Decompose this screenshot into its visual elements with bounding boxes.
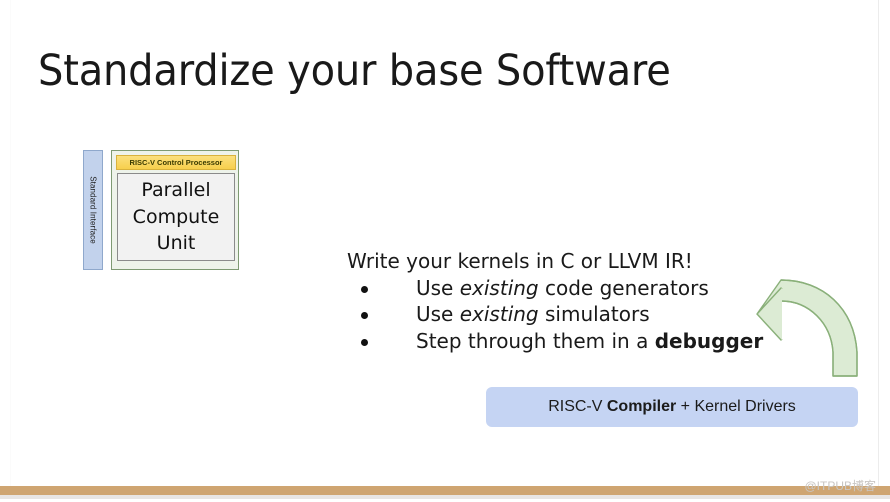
standard-interface-bar: Standard Interface <box>83 150 103 270</box>
compiler-bar-emphasis: Compiler <box>607 398 676 415</box>
bullet-emphasis: debugger <box>655 329 764 353</box>
bullet-prefix: Use <box>416 276 460 300</box>
risc-v-control-processor-band: RISC-V Control Processor <box>116 155 236 170</box>
compiler-bar-prefix: RISC-V <box>548 398 607 415</box>
slide-frame-right-edge <box>878 0 879 495</box>
bullet-prefix: Use <box>416 302 460 326</box>
bullet-dot-icon <box>361 286 368 293</box>
bullet-suffix: code generators <box>539 276 709 300</box>
risc-v-control-processor-label: RISC-V Control Processor <box>130 158 223 167</box>
bullet-dot-icon <box>361 312 368 319</box>
parallel-compute-unit-box: Parallel Compute Unit <box>117 173 235 261</box>
body-text-block: Write your kernels in C or LLVM IR! Use … <box>347 248 767 354</box>
hardware-block-diagram: Standard Interface RISC-V Control Proces… <box>83 150 239 270</box>
curved-arrow-icon <box>752 278 862 380</box>
bullet-list: Use existing code generators Use existin… <box>347 275 767 355</box>
compute-unit-line-3: Unit <box>157 230 196 257</box>
footer-accent-bar <box>0 486 890 495</box>
bullet-emphasis: existing <box>460 302 539 326</box>
slide-frame-left-edge <box>10 0 11 495</box>
compute-unit-line-1: Parallel <box>141 177 210 204</box>
compiler-bar-suffix: + Kernel Drivers <box>676 398 796 415</box>
slide-canvas: Standardize your base Software Standard … <box>0 0 890 502</box>
bullet-emphasis: existing <box>460 276 539 300</box>
bullet-suffix: simulators <box>539 302 650 326</box>
watermark: @ITPUB博客 <box>804 477 876 494</box>
bullet-dot-icon <box>361 339 368 346</box>
lead-line: Write your kernels in C or LLVM IR! <box>347 248 767 275</box>
compiler-drivers-bar: RISC-V Compiler + Kernel Drivers <box>486 387 858 427</box>
compute-unit-line-2: Compute <box>133 204 220 231</box>
processing-unit-outer-box: RISC-V Control Processor Parallel Comput… <box>111 150 239 270</box>
compiler-bar-text: RISC-V Compiler + Kernel Drivers <box>548 398 796 416</box>
footer-accent-shadow <box>0 495 890 499</box>
bullet-item: Step through them in a debugger <box>347 328 767 355</box>
bullet-item: Use existing code generators <box>347 275 767 302</box>
bullet-prefix: Step through them in a <box>416 329 655 353</box>
slide-title: Standardize your base Software <box>38 48 671 95</box>
standard-interface-label: Standard Interface <box>89 176 98 244</box>
bullet-item: Use existing simulators <box>347 301 767 328</box>
